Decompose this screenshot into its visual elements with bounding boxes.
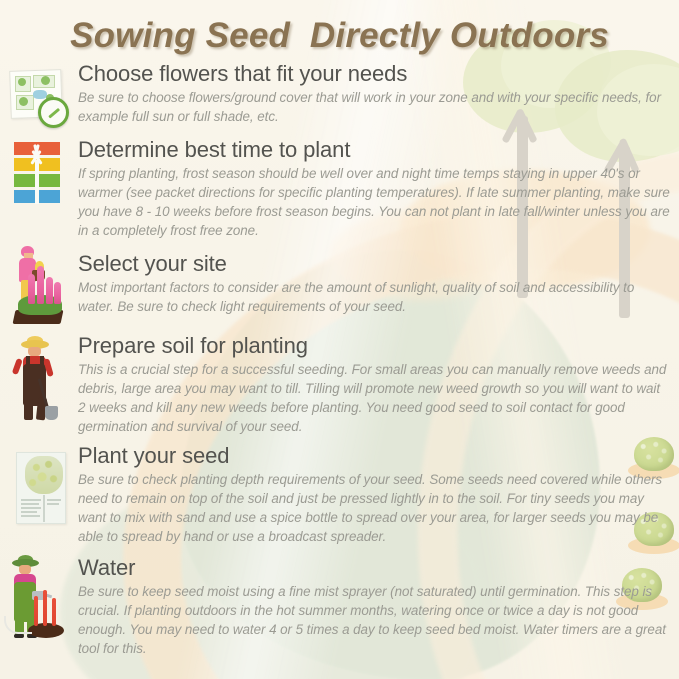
step-item-choose-flowers: Choose flowers that fit your needs Be su… (0, 62, 671, 126)
infographic-poster: Sowing Seed Directly Outdoors (0, 0, 679, 679)
step-body: Be sure to choose flowers/ground cover t… (78, 88, 671, 126)
step-heading: Select your site (78, 252, 671, 277)
step-body: If spring planting, frost season should … (78, 164, 671, 240)
step-item-best-time: Determine best time to plant If spring p… (0, 138, 671, 240)
step-item-select-site: Select your site Most important factors … (0, 252, 671, 316)
garden-plan-compass-icon (8, 68, 68, 126)
step-item-water: Water Be sure to keep seed moist using a… (0, 556, 671, 658)
four-seasons-icon (14, 142, 60, 204)
step-heading: Water (78, 556, 671, 581)
step-body: Be sure to check planting depth requirem… (78, 470, 671, 546)
step-body: This is a crucial step for a successful … (78, 360, 671, 436)
gardener-watering-can-icon (4, 558, 68, 638)
step-body: Most important factors to consider are t… (78, 278, 671, 316)
gardener-shovel-icon (12, 338, 64, 422)
seed-packet-icon (12, 452, 68, 524)
step-heading: Determine best time to plant (78, 138, 671, 163)
step-body: Be sure to keep seed moist using a fine … (78, 582, 671, 658)
compass-icon (38, 97, 69, 128)
page-title: Sowing Seed Directly Outdoors (0, 16, 679, 56)
step-item-plant-seed: Plant your seed Be sure to check plantin… (0, 444, 671, 546)
step-heading: Prepare soil for planting (78, 334, 671, 359)
step-heading: Plant your seed (78, 444, 671, 469)
poster-content: Sowing Seed Directly Outdoors (0, 0, 679, 679)
step-heading: Choose flowers that fit your needs (78, 62, 671, 87)
flower-bed-planting-icon (8, 244, 66, 324)
step-item-prepare-soil: Prepare soil for planting This is a cruc… (0, 334, 671, 436)
